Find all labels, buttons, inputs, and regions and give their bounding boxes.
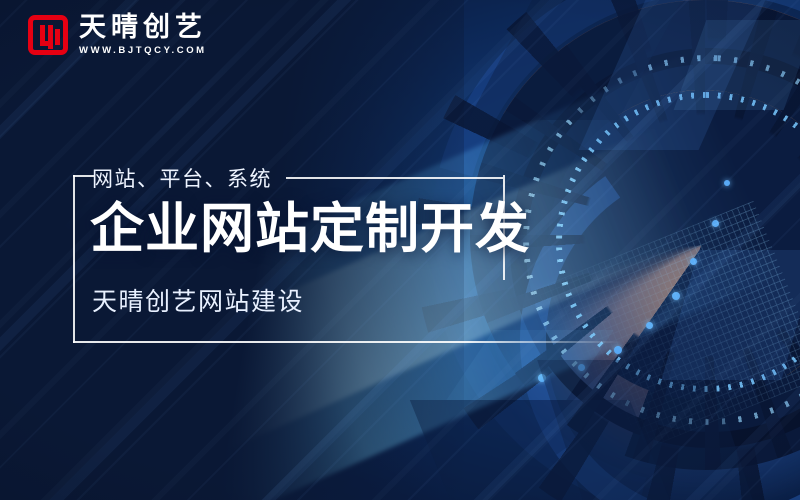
hero-kicker: 网站、平台、系统 [92, 163, 272, 193]
hero-kicker-row: 网站、平台、系统 [92, 163, 503, 193]
brand-logo[interactable]: 天晴创艺 WWW.BJTQCY.COM [28, 14, 207, 56]
frame-bottom-border [73, 341, 621, 343]
hero-text-block: 网站、平台、系统 企业网站定制开发 天晴创艺网站建设 [73, 175, 505, 343]
logo-company-name: 天晴创艺 [79, 14, 207, 41]
hero-subline: 天晴创艺网站建设 [92, 282, 304, 318]
kicker-rule [286, 177, 503, 179]
logo-text-group: 天晴创艺 WWW.BJTQCY.COM [79, 14, 207, 56]
frame-left-border [73, 175, 75, 343]
hero-headline: 企业网站定制开发 [90, 201, 530, 258]
logo-mark-icon [28, 15, 68, 55]
banner-canvas: 天晴创艺 WWW.BJTQCY.COM 网站、平台、系统 企业网站定制开发 天晴… [0, 0, 800, 500]
logo-website-url: WWW.BJTQCY.COM [79, 46, 207, 56]
